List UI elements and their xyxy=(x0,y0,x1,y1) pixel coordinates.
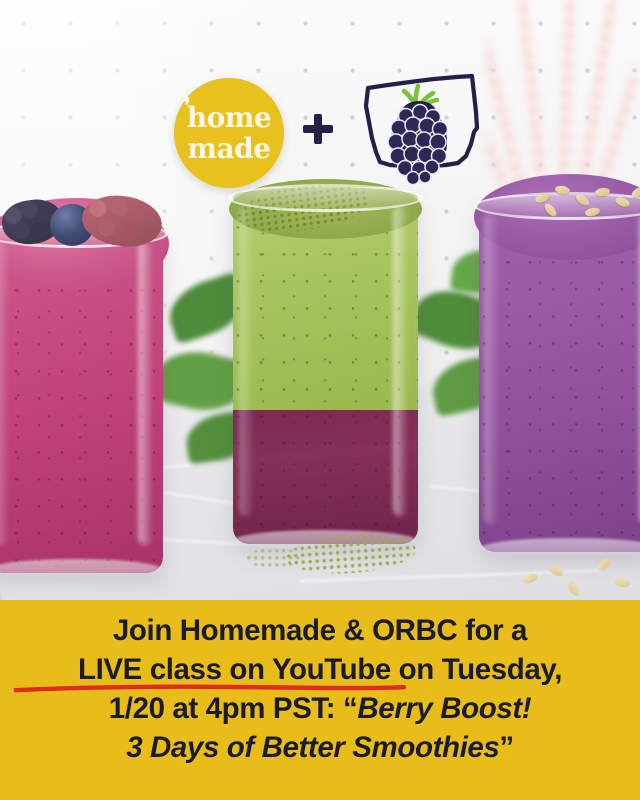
banner-line-3: 1/20 at 4pm PST: “Berry Boost! xyxy=(0,689,640,728)
banner-line-4: 3 Days of Better Smoothies” xyxy=(0,728,640,767)
blackberry-icon xyxy=(388,86,448,185)
banner-line-1: Join Homemade & ORBC for a xyxy=(0,611,640,650)
glass-left-highlight xyxy=(0,242,8,546)
glass-middle-highlight xyxy=(239,206,253,516)
glass-left-berry-smoothie xyxy=(0,228,163,573)
glass-middle-speckles xyxy=(233,192,418,544)
homemade-logo-line1: home xyxy=(187,104,271,132)
glass-right-blueberry-oat-smoothie xyxy=(479,200,640,552)
glass-left-highlight xyxy=(138,242,152,546)
banner-line-3-title: Berry Boost! xyxy=(357,692,531,725)
event-announcement-banner: Join Homemade & ORBC for a LIVE class on… xyxy=(0,600,640,800)
oregon-blackberry-logo xyxy=(358,70,482,188)
banner-line-2: LIVE class on YouTube on Tuesday, xyxy=(0,650,640,689)
brand-header-row: home made xyxy=(0,38,640,156)
banner-line-4-title: 3 Days of Better Smoothies xyxy=(126,731,499,764)
matcha-powder-spill xyxy=(246,548,302,568)
glass-middle-layered-smoothie xyxy=(233,192,418,544)
homemade-logo: home made xyxy=(174,78,284,188)
promo-poster: home made xyxy=(0,0,640,800)
banner-line-4-suffix: ” xyxy=(499,731,513,764)
homemade-logo-line2: made xyxy=(187,135,270,163)
glass-middle-body xyxy=(233,192,418,544)
plus-icon xyxy=(303,114,333,144)
glass-right-highlight xyxy=(484,214,498,524)
banner-line-3-prefix: 1/20 at 4pm PST: “ xyxy=(109,692,358,725)
glass-middle-highlight xyxy=(393,206,407,516)
